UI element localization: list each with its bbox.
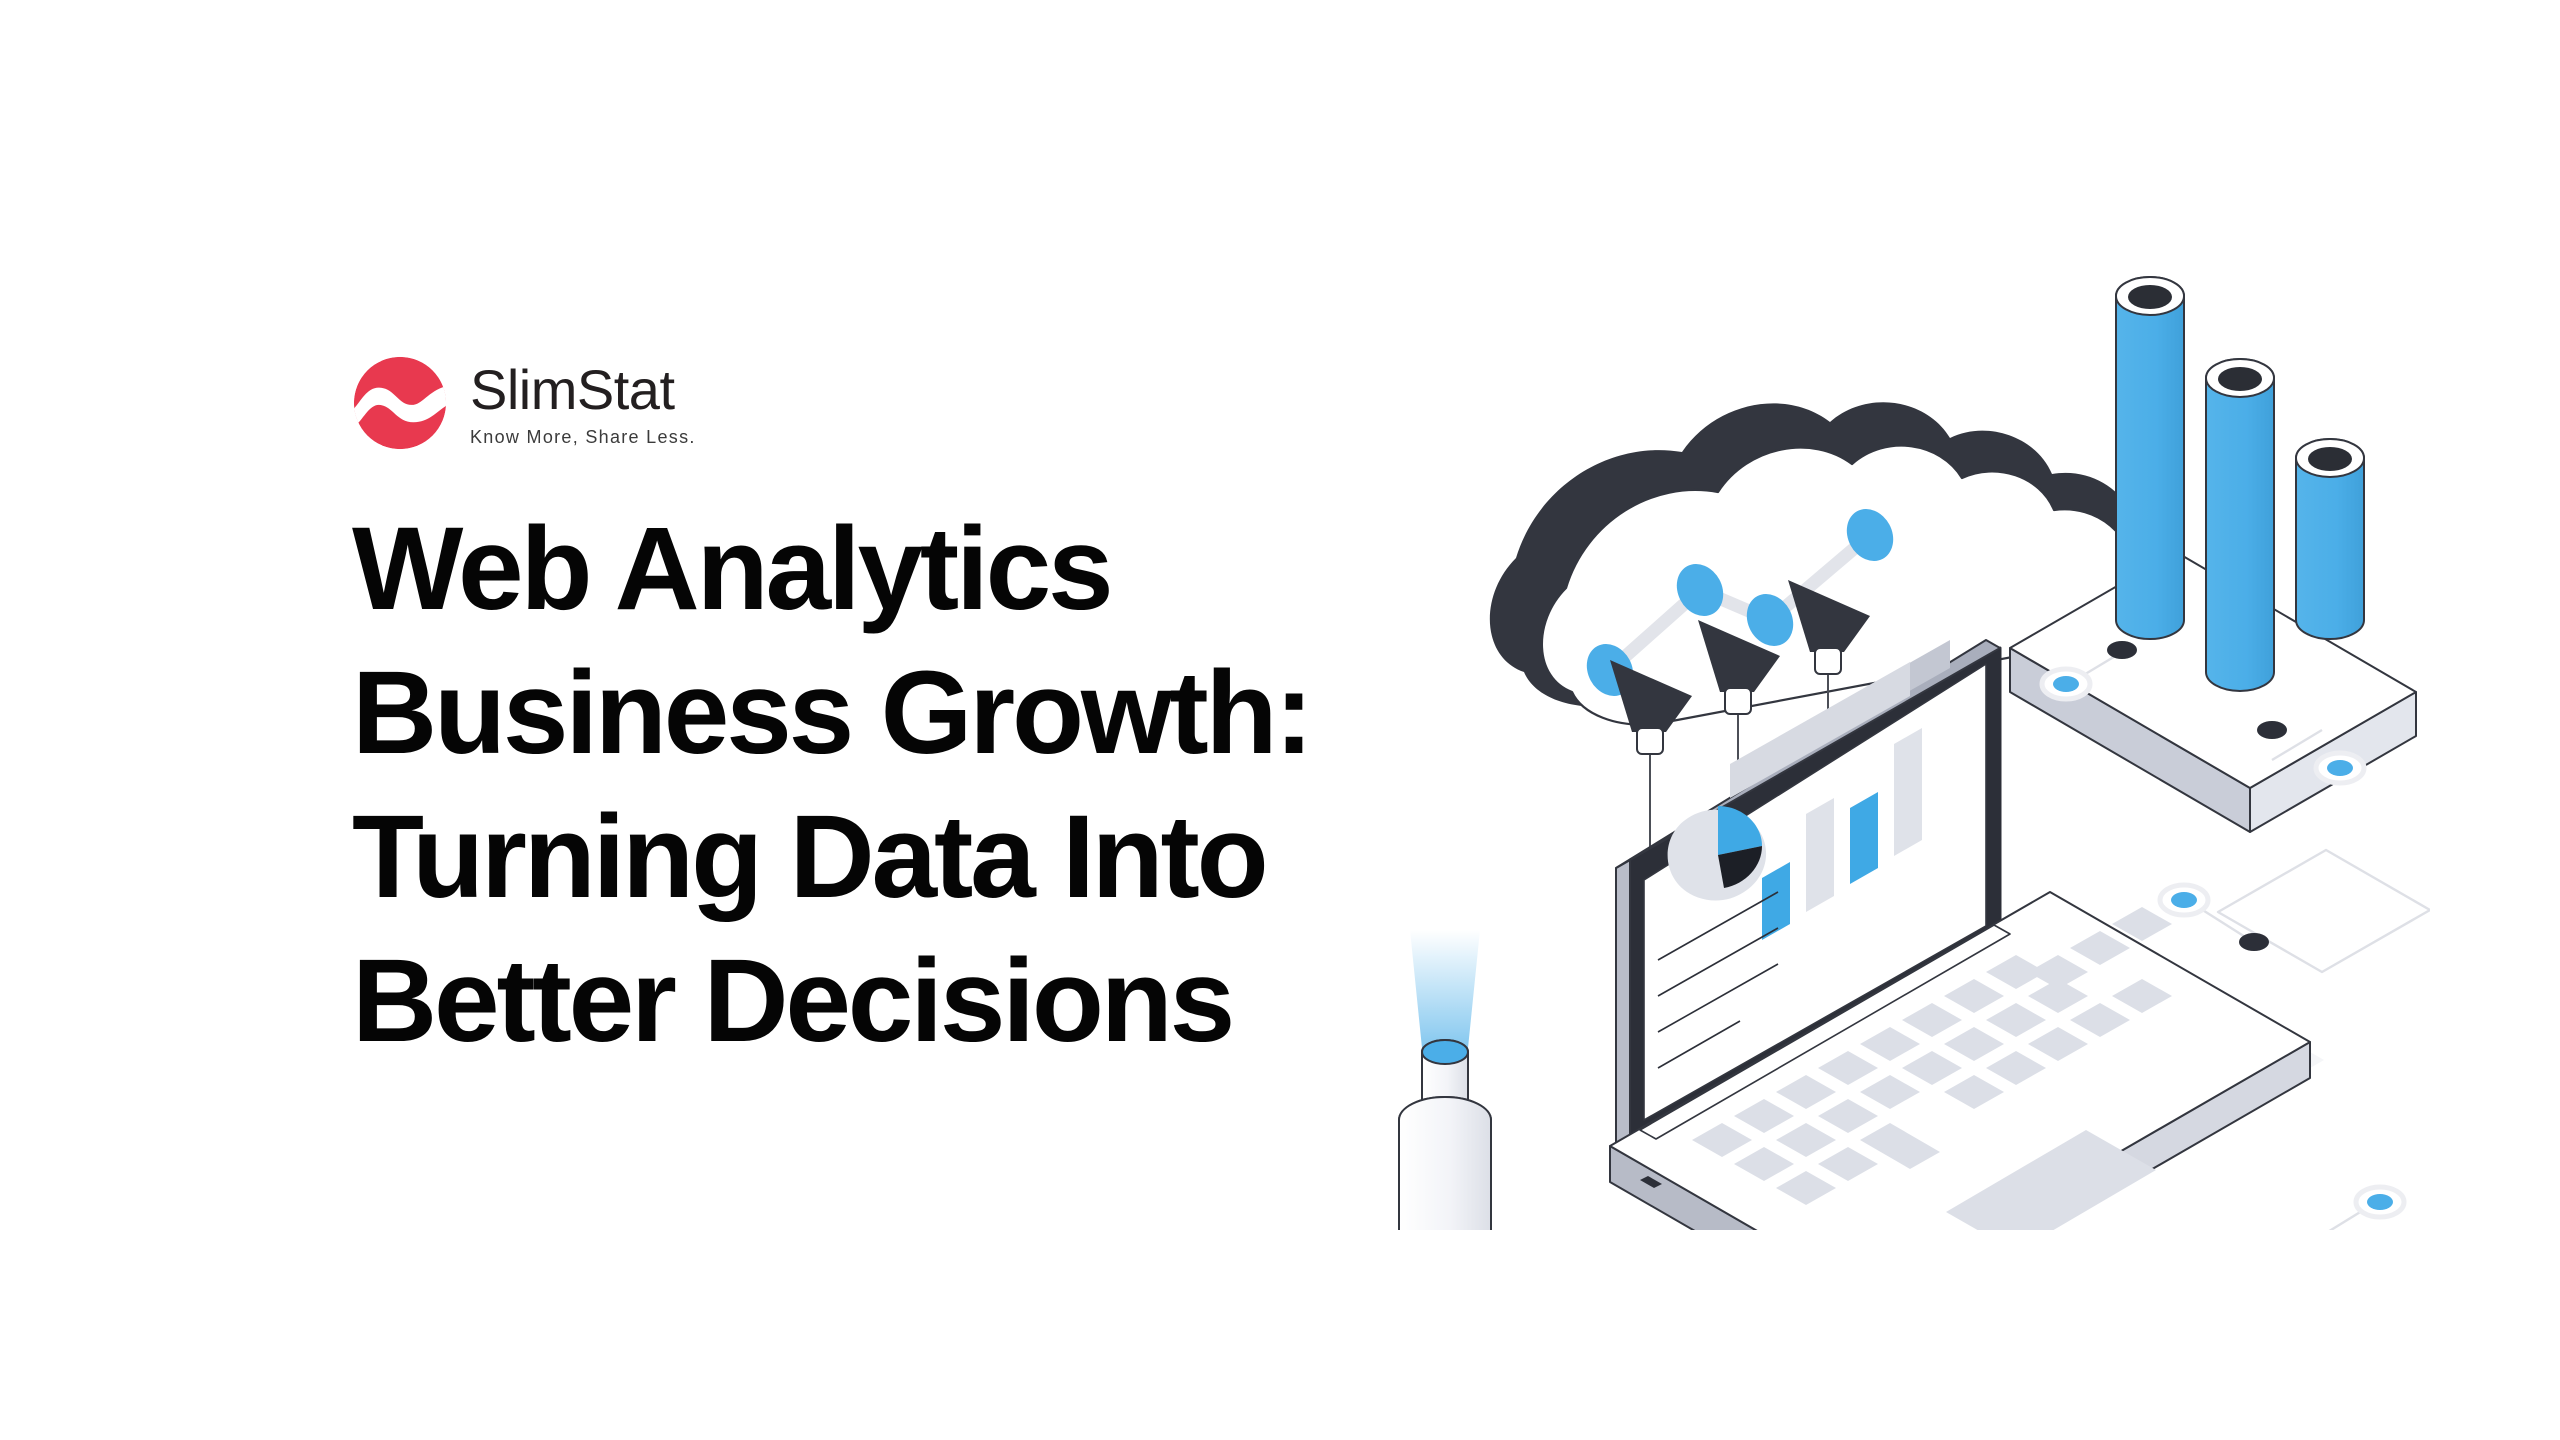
headline-line-4: Better Decisions xyxy=(352,929,1412,1073)
node-blue-a xyxy=(2053,676,2079,692)
node-dark-b xyxy=(2257,721,2287,739)
headline-line-2: Business Growth: xyxy=(352,641,1412,785)
node-dark-a xyxy=(2107,641,2137,659)
brand-text-group: SlimStat Know More, Share Less. xyxy=(470,360,696,446)
node-blue-c xyxy=(2171,892,2197,908)
slimstat-wave-circle-icon xyxy=(352,355,448,451)
node-blue-d xyxy=(2367,1194,2393,1210)
headline-line-3: Turning Data Into xyxy=(352,785,1412,929)
screen-bar-2 xyxy=(1806,798,1834,912)
beacon-top-light xyxy=(1422,1040,1468,1064)
headline-line-1: Web Analytics xyxy=(352,497,1412,641)
content-column: SlimStat Know More, Share Less. Web Anal… xyxy=(352,355,1412,1073)
beacon xyxy=(1373,930,1517,1230)
bar-2 xyxy=(2206,359,2274,691)
page-title: Web Analytics Business Growth: Turning D… xyxy=(352,497,1412,1073)
brand-lockup[interactable]: SlimStat Know More, Share Less. xyxy=(352,355,1412,451)
laptop-screen-pie-chart xyxy=(1668,806,1766,901)
bar-1 xyxy=(2116,277,2184,639)
bar-3 xyxy=(2296,439,2364,639)
node-dark-c xyxy=(2239,933,2269,951)
isometric-cloud-analytics-illustration xyxy=(1310,240,2430,1230)
node-blue-b xyxy=(2327,760,2353,776)
screen-bar-3 xyxy=(1850,792,1878,884)
brand-tagline: Know More, Share Less. xyxy=(470,428,696,446)
poster-canvas: SlimStat Know More, Share Less. Web Anal… xyxy=(0,0,2560,1440)
screen-bar-4 xyxy=(1894,728,1922,856)
brand-name: SlimStat xyxy=(470,362,696,418)
